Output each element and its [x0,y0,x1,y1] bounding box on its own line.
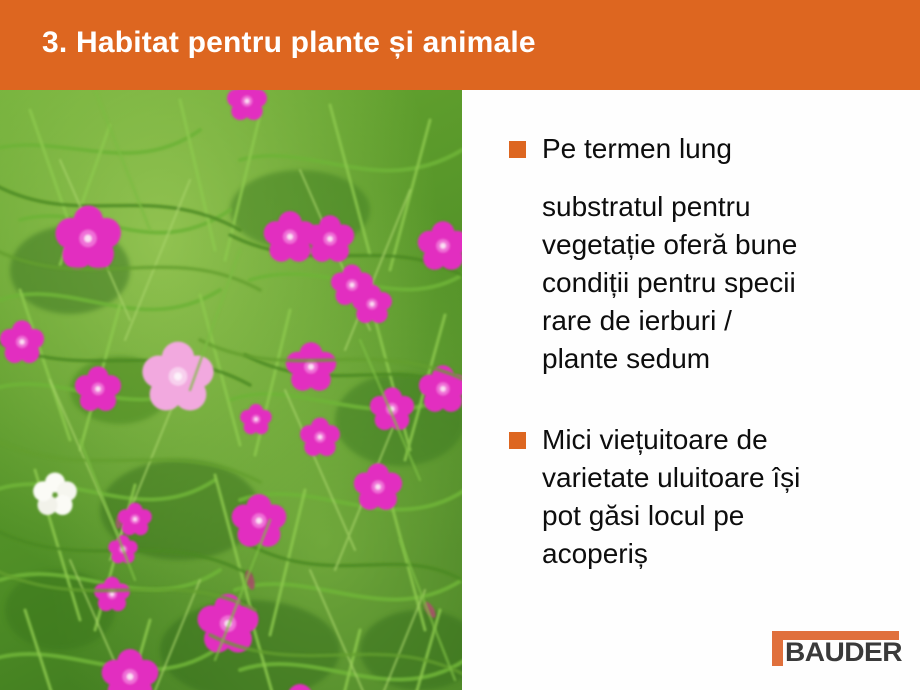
logo-left-bar [772,631,783,666]
slide-title: 3. Habitat pentru plante și animale [42,23,536,63]
square-bullet-icon [509,141,526,158]
square-bullet-icon [509,432,526,449]
flower-meadow-photo [0,90,462,690]
bullet-item-1: Pe termen lung substratul pentru vegetaț… [509,130,889,378]
bullet-2-heading: Mici viețuitoare de varietate uluitoare … [542,421,889,573]
flower-meadow-illustration [0,90,462,690]
bauder-logo: BAUDER [772,631,899,667]
bullet-1-heading: Pe termen lung [542,130,889,168]
content-column: Pe termen lung substratul pentru vegetaț… [462,90,920,690]
bullet-1-body: substratul pentru vegetație oferă bune c… [542,188,889,378]
presentation-slide: 3. Habitat pentru plante și animale [0,0,920,690]
bullet-item-2: Mici viețuitoare de varietate uluitoare … [509,421,889,573]
logo-wordmark: BAUDER [785,638,902,666]
